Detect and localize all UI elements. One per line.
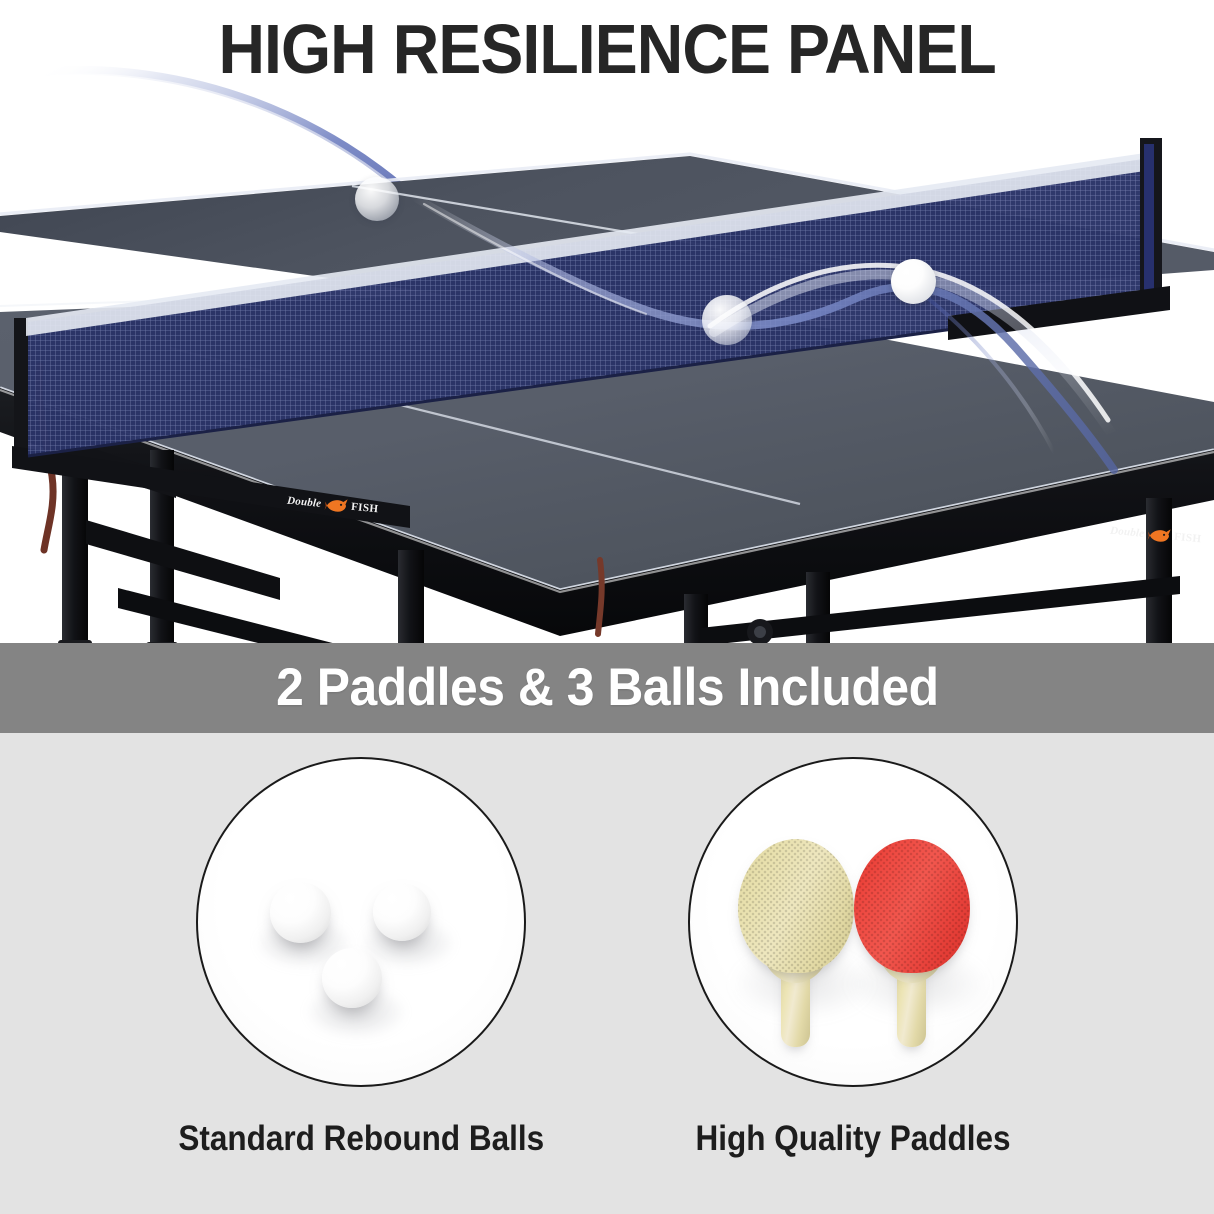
feature-caption-balls: Standard Rebound Balls	[178, 1119, 544, 1159]
features-section: Standard Rebound Balls	[0, 733, 1214, 1214]
page-title: HIGH RESILIENCE PANEL	[49, 12, 1170, 86]
feature-caption-paddles: High Quality Paddles	[695, 1119, 1010, 1159]
hero-section: Double FISH Double	[0, 0, 1214, 643]
feature-balls: Standard Rebound Balls	[151, 757, 571, 1159]
ball-apex-left	[355, 177, 399, 221]
ball-apex-right	[891, 259, 936, 304]
feature-paddles: High Quality Paddles	[643, 757, 1063, 1159]
paddle-rubber-face	[854, 839, 970, 973]
paddle-rubber-face	[738, 839, 854, 973]
inclusions-banner: 2 Paddles & 3 Balls Included	[0, 643, 1214, 733]
ping-pong-ball	[373, 883, 431, 941]
inclusions-banner-text: 2 Paddles & 3 Balls Included	[276, 659, 938, 717]
ping-pong-ball	[270, 882, 331, 943]
ball-trajectory-front	[0, 0, 1214, 643]
balls-circle-image	[196, 757, 526, 1087]
ball-bounce-mid	[702, 295, 752, 345]
product-feature-image: Double FISH Double	[0, 0, 1214, 1214]
paddles-circle-image	[688, 757, 1018, 1087]
ping-pong-ball	[322, 948, 382, 1008]
